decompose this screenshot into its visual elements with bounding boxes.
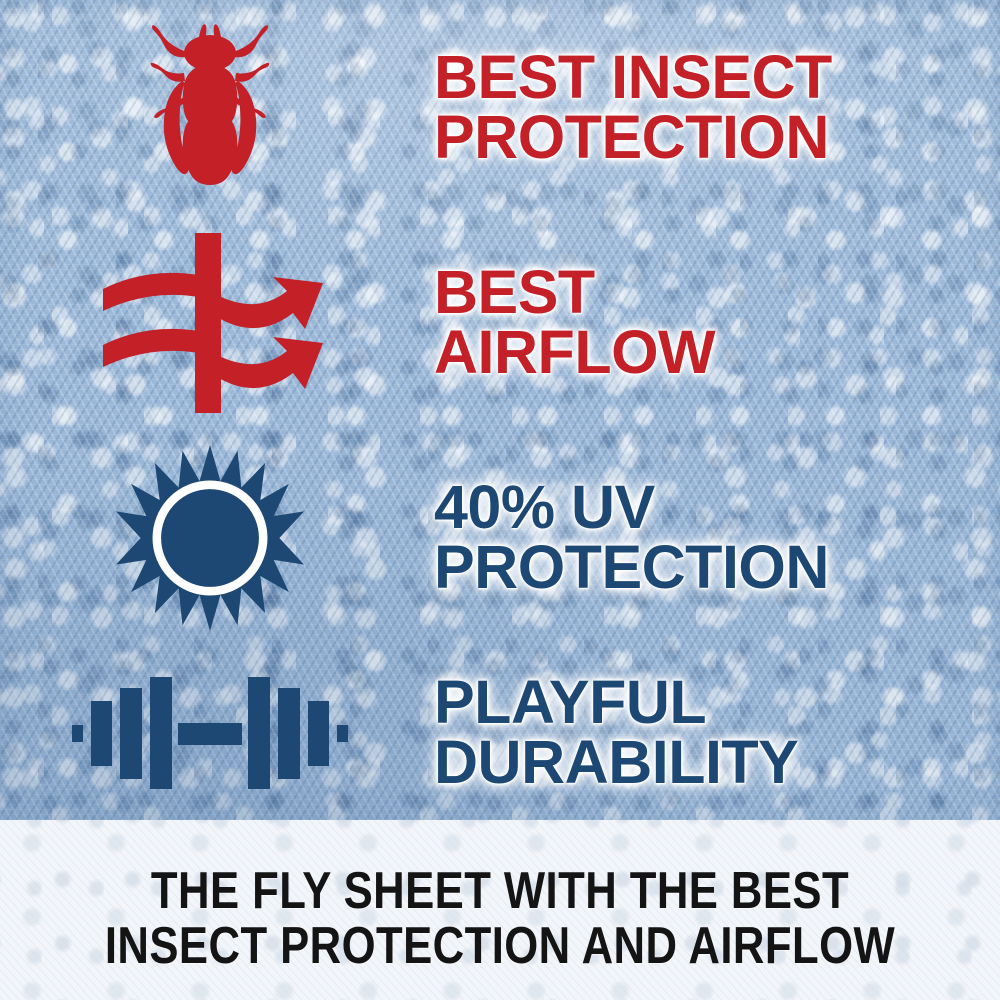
feature-icon-cell: [0, 15, 420, 200]
product-feature-infographic: BEST INSECT PROTECTION: [0, 0, 1000, 1000]
feature-icon-cell: [0, 443, 420, 633]
feature-row-durability: PLAYFUL DURABILITY: [0, 645, 1000, 820]
caption-bar: THE FLY SHEET WITH THE BEST INSECT PROTE…: [0, 820, 1000, 1000]
feature-text-cell: BEST AIRFLOW: [420, 263, 1000, 381]
airflow-arrows-icon: [95, 233, 325, 413]
feature-icon-cell: [0, 233, 420, 413]
feature-headline: BEST AIRFLOW: [434, 263, 1000, 381]
feature-headline: BEST INSECT PROTECTION: [434, 48, 1000, 166]
feature-row-uv-protection: 40% UV PROTECTION: [0, 430, 1000, 645]
feature-headline: 40% UV PROTECTION: [434, 478, 1000, 596]
caption-headline: THE FLY SHEET WITH THE BEST INSECT PROTE…: [80, 864, 920, 974]
fly-icon: [135, 15, 285, 200]
feature-text-cell: 40% UV PROTECTION: [420, 478, 1000, 596]
feature-icon-cell: [0, 669, 420, 797]
feature-list: BEST INSECT PROTECTION: [0, 0, 1000, 820]
feature-text-cell: BEST INSECT PROTECTION: [420, 48, 1000, 166]
feature-text-cell: PLAYFUL DURABILITY: [420, 673, 1000, 791]
sun-burst-icon: [115, 443, 305, 633]
feature-headline: PLAYFUL DURABILITY: [434, 673, 1000, 791]
feature-row-airflow: BEST AIRFLOW: [0, 215, 1000, 430]
feature-row-insect-protection: BEST INSECT PROTECTION: [0, 0, 1000, 215]
dumbbell-icon: [72, 669, 348, 797]
